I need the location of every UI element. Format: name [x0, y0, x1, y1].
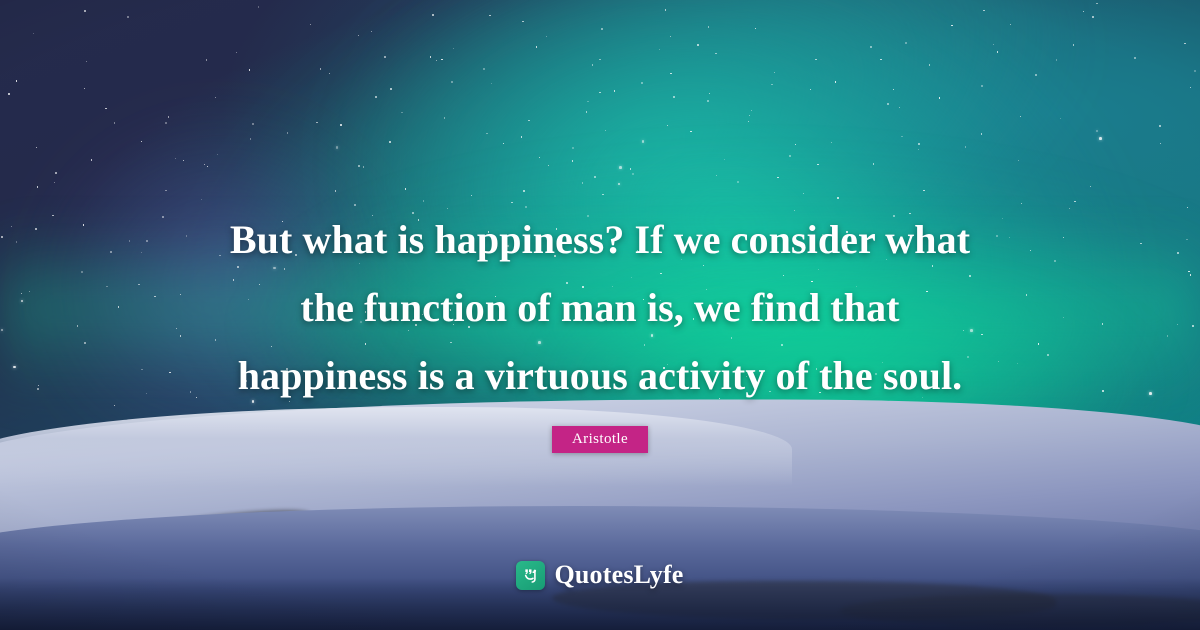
quote-line-1: But what is happiness? If we consider wh…: [100, 206, 1100, 274]
brand-name: QuotesLyfe: [554, 560, 683, 590]
quote-line-3: happiness is a virtuous activity of the …: [100, 342, 1100, 410]
brand-logo[interactable]: QuotesLyfe: [0, 560, 1200, 590]
quote-smiley-icon: [516, 561, 545, 590]
quote-text: But what is happiness? If we consider wh…: [0, 206, 1200, 410]
quote-card: But what is happiness? If we consider wh…: [0, 0, 1200, 630]
author-name: Aristotle: [572, 431, 628, 448]
card-content: But what is happiness? If we consider wh…: [0, 0, 1200, 630]
quote-line-2: the function of man is, we find that: [100, 274, 1100, 342]
author-badge: Aristotle: [552, 426, 648, 453]
